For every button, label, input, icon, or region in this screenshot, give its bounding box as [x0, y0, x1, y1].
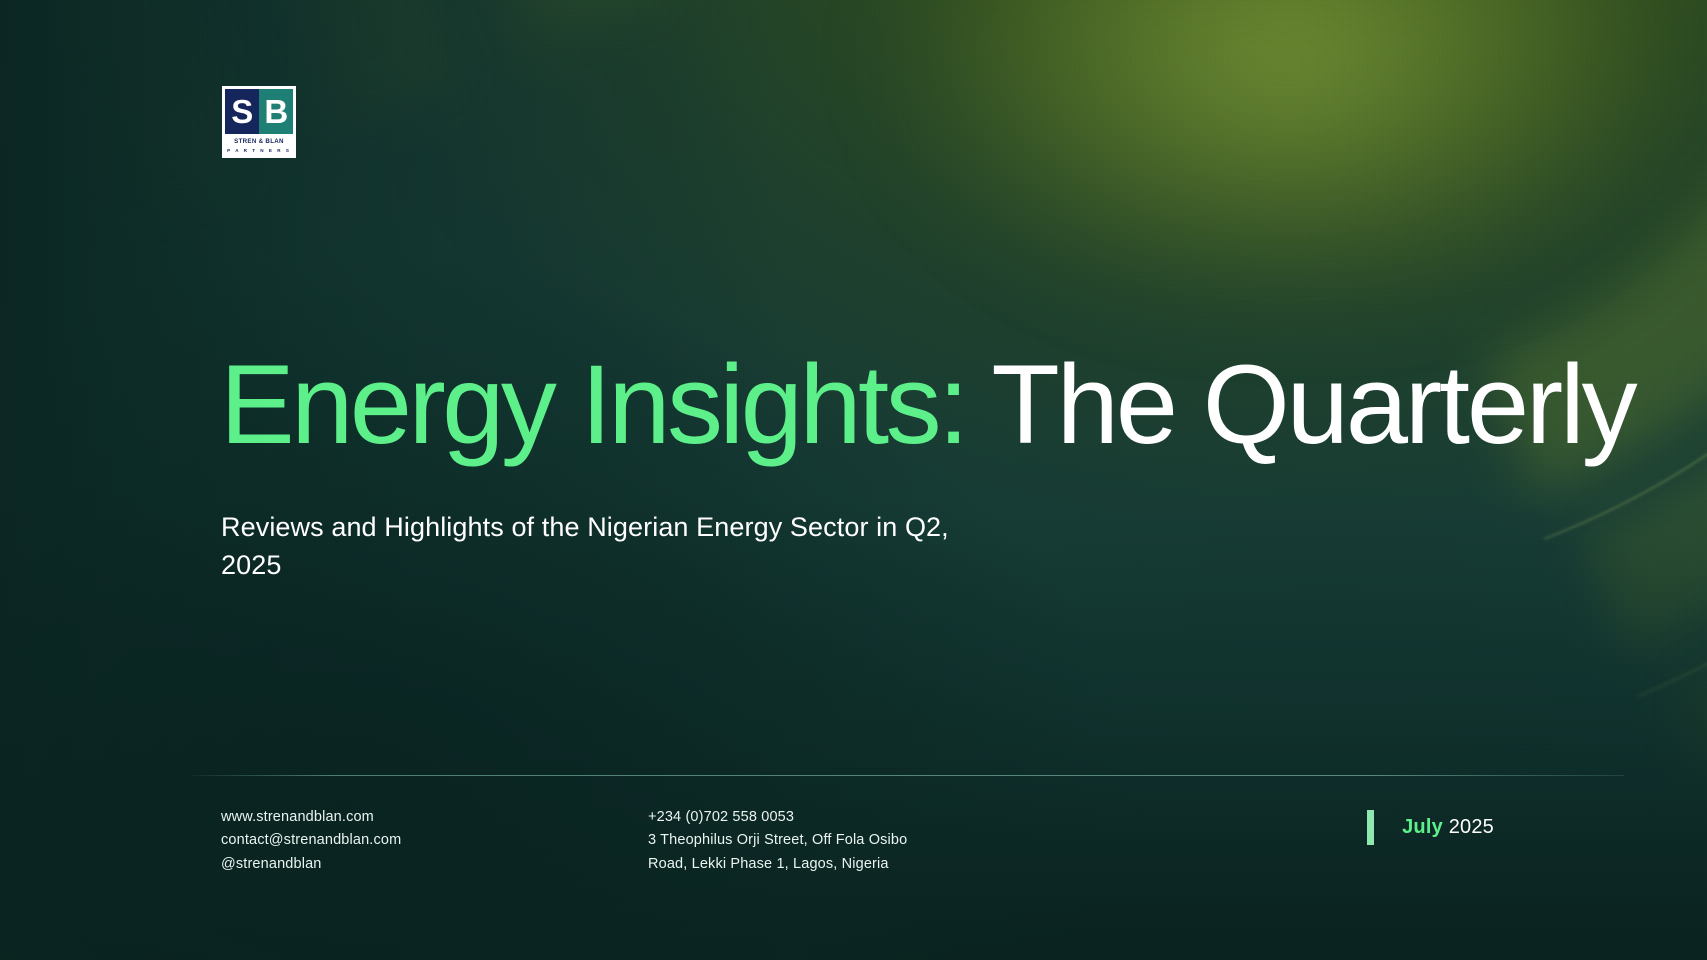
- page-title-rest: The Quarterly: [966, 342, 1635, 467]
- stren-and-blan-logo[interactable]: S B STREN & BLAN P A R T N E R S: [222, 86, 296, 158]
- footer-contact-info[interactable]: www.strenandblan.com contact@strenandbla…: [221, 806, 401, 876]
- cover-slide: S B STREN & BLAN P A R T N E R S Energy …: [0, 0, 1707, 960]
- publication-year: 2025: [1449, 816, 1494, 838]
- logo-monogram-right: B: [259, 89, 293, 134]
- logo-firm-name: STREN & BLAN: [225, 138, 293, 145]
- date-accent-bar: [1367, 810, 1374, 845]
- footer-address-info: +234 (0)702 558 0053 3 Theophilus Orji S…: [648, 806, 907, 876]
- logo-monogram-left: S: [225, 89, 259, 134]
- page-title-accent: Energy Insights:: [220, 342, 966, 467]
- logo-letter-s: S: [225, 89, 259, 134]
- footer-divider: [192, 775, 1624, 776]
- publication-month: July: [1402, 816, 1443, 838]
- publication-date: July 2025: [1402, 816, 1494, 839]
- logo-monogram: S B: [225, 89, 293, 134]
- page-title: Energy Insights: The Quarterly: [220, 348, 1634, 462]
- page-subtitle: Reviews and Highlights of the Nigerian E…: [221, 508, 1001, 585]
- logo-partners-label: P A R T N E R S: [225, 148, 293, 153]
- logo-letter-b: B: [259, 89, 293, 134]
- logo-inner: S B STREN & BLAN P A R T N E R S: [225, 89, 293, 155]
- publication-date-badge: July 2025: [1367, 810, 1494, 845]
